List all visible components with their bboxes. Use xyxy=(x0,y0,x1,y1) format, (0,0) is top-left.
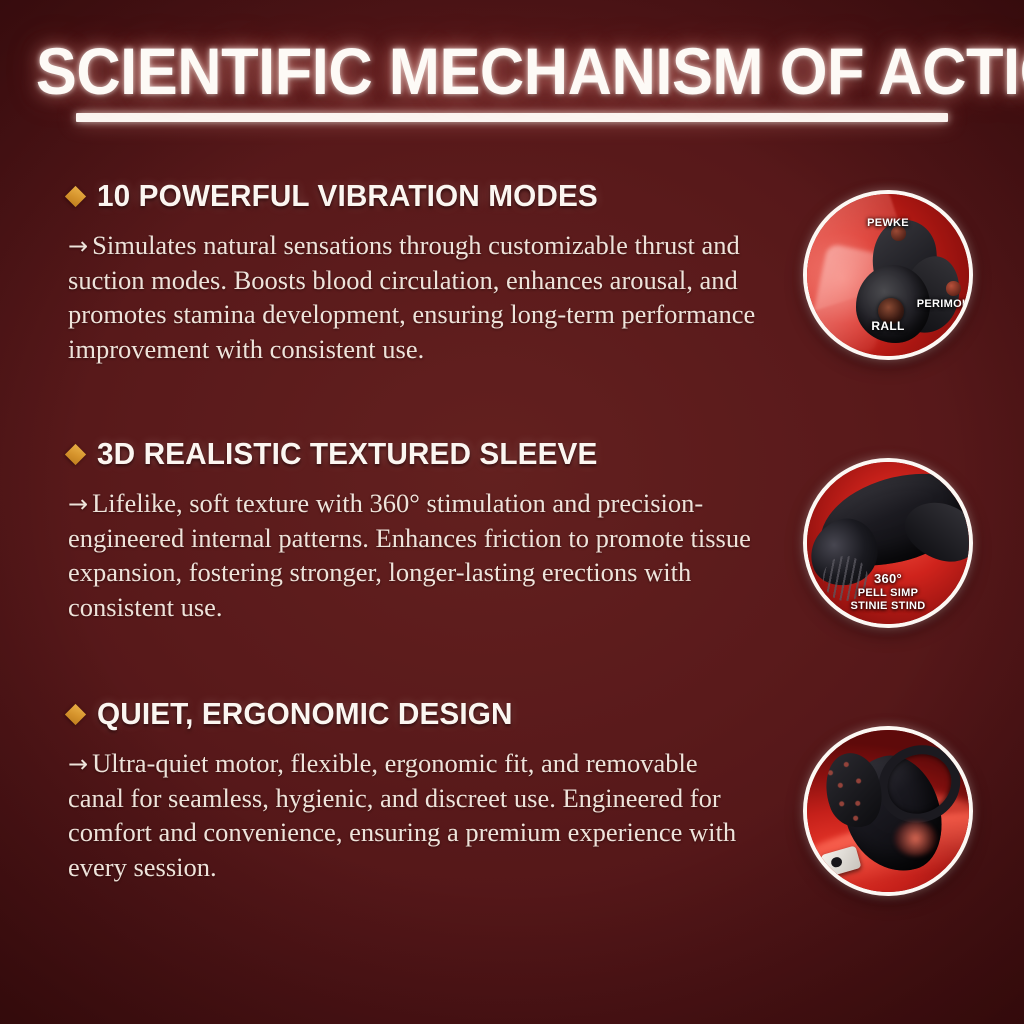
poster-canvas: SCIENTIFIC MECHANISM OF ACTION 10 POWERF… xyxy=(0,0,1024,1024)
diamond-icon xyxy=(65,703,86,724)
feature-2-heading: 3D REALISTIC TEXTURED SLEEVE xyxy=(97,436,597,472)
feature-1-body-text: Simulates natural sensations through cus… xyxy=(68,230,755,364)
product-photo-3 xyxy=(803,726,973,896)
arrow-icon: → xyxy=(68,490,92,518)
feature-3-body-text: Ultra-quiet motor, flexible, ergonomic f… xyxy=(68,748,736,882)
features-list: 10 POWERFUL VIBRATION MODES →Simulates n… xyxy=(68,178,768,889)
diamond-icon xyxy=(65,185,86,206)
product-photo-2-art: 360° PELL SIMP STINIE STIND xyxy=(807,462,969,624)
product-photo-column: PEWKE PERIMOL RALL 360° PELL SIMP STINIE… xyxy=(803,190,973,896)
feature-3-heading: QUIET, ERGONOMIC DESIGN xyxy=(97,696,513,732)
arrow-icon: → xyxy=(68,750,92,778)
arrow-icon: → xyxy=(68,232,92,260)
feature-2-header: 3D REALISTIC TEXTURED SLEEVE xyxy=(68,436,768,472)
title-block: SCIENTIFIC MECHANISM OF ACTION xyxy=(0,38,1024,122)
product-photo-1-art: PEWKE PERIMOL RALL xyxy=(807,194,969,356)
feature-2-body-text: Lifelike, soft texture with 360° stimula… xyxy=(68,488,751,622)
feature-3-header: QUIET, ERGONOMIC DESIGN xyxy=(68,696,768,732)
photo-1-stud-right xyxy=(946,281,961,296)
photo-3-glow xyxy=(894,821,936,857)
feature-2-body: →Lifelike, soft texture with 360° stimul… xyxy=(68,486,758,625)
feature-1-body: →Simulates natural sensations through cu… xyxy=(68,228,758,367)
product-photo-3-art xyxy=(807,730,969,892)
feature-3-body: →Ultra-quiet motor, flexible, ergonomic … xyxy=(68,746,758,885)
feature-1-heading: 10 POWERFUL VIBRATION MODES xyxy=(97,178,598,214)
product-photo-1: PEWKE PERIMOL RALL xyxy=(803,190,973,360)
feature-item-2: 3D REALISTIC TEXTURED SLEEVE →Lifelike, … xyxy=(68,436,768,692)
product-photo-2: 360° PELL SIMP STINIE STIND xyxy=(803,458,973,628)
diamond-icon xyxy=(65,443,86,464)
page-title: SCIENTIFIC MECHANISM OF ACTION xyxy=(36,38,988,104)
photo-1-stud-top xyxy=(891,226,906,241)
feature-item-3: QUIET, ERGONOMIC DESIGN →Ultra-quiet mot… xyxy=(68,696,768,885)
feature-1-header: 10 POWERFUL VIBRATION MODES xyxy=(68,178,768,214)
title-underline-bar xyxy=(76,113,948,122)
photo-1-control-knob xyxy=(878,298,904,324)
feature-item-1: 10 POWERFUL VIBRATION MODES →Simulates n… xyxy=(68,178,768,432)
